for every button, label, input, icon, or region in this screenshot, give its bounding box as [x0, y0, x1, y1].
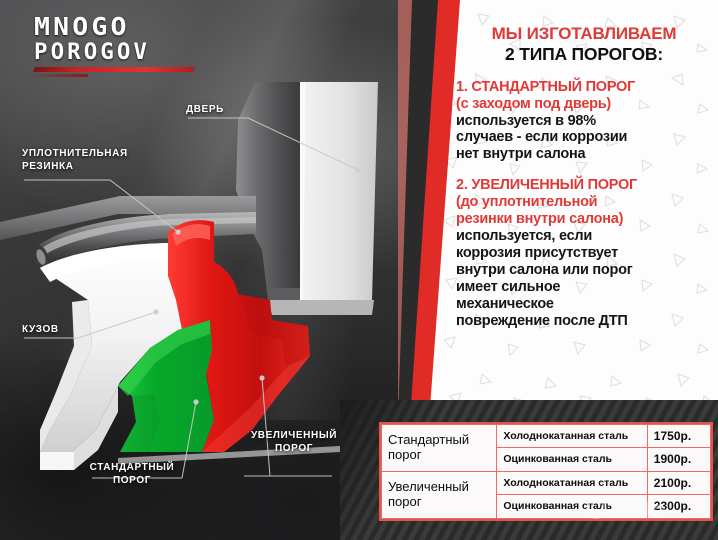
label-door: ДВЕРЬ: [186, 104, 224, 117]
panel-block-extended: 2. УВЕЛИЧЕННЫЙ ПОРОГ (до уплотнительной …: [456, 177, 712, 330]
table-row: Стандартный порог Холоднокатанная сталь …: [382, 425, 711, 448]
panel-block-standard: 1. СТАНДАРТНЫЙ ПОРОГ (с заходом под двер…: [456, 79, 712, 164]
cell-price: 1750р.: [647, 425, 710, 448]
block-2-black-text: используется, если коррозия присутствует…: [456, 228, 712, 330]
label-extended-sill: УВЕЛИЧЕННЫЙ ПОРОГ: [244, 430, 344, 455]
door-bottom-lip: [268, 300, 374, 315]
panel-heading-red: МЫ ИЗГОТАВЛИВАЕМ: [456, 24, 712, 43]
cell-product-standard: Стандартный порог: [382, 425, 497, 472]
cell-price: 2300р.: [647, 495, 710, 518]
panel-text-content: МЫ ИЗГОТАВЛИВАЕМ 2 ТИПА ПОРОГОВ: 1. СТАН…: [456, 24, 712, 330]
cell-material: Холоднокатанная сталь: [497, 425, 647, 448]
cell-material: Оцинкованная сталь: [497, 495, 647, 518]
cell-material: Холоднокатанная сталь: [497, 471, 647, 494]
door-outer-panel: [300, 82, 378, 300]
table-row: Увеличенный порог Холоднокатанная сталь …: [382, 471, 711, 494]
label-body: КУЗОВ: [22, 324, 59, 337]
block-1-black-text: используется в 98% случаев - если корроз…: [456, 113, 712, 164]
label-standard-sill: СТАНДАРТНЫЙ ПОРОГ: [84, 462, 180, 487]
panel-heading-black: 2 ТИПА ПОРОГОВ:: [456, 45, 712, 65]
cell-product-extended: Увеличенный порог: [382, 471, 497, 518]
cell-price: 1900р.: [647, 448, 710, 471]
price-table: Стандартный порог Холоднокатанная сталь …: [381, 424, 711, 519]
door-inner-panel: [236, 82, 300, 300]
label-rubber-seal: УПЛОТНИТЕЛЬНАЯ РЕЗИНКА: [22, 148, 128, 173]
promo-image: MNOGO POROGOV: [0, 0, 718, 540]
cell-price: 2100р.: [647, 471, 710, 494]
cell-material: Оцинкованная сталь: [497, 448, 647, 471]
block-1-red-text: 1. СТАНДАРТНЫЙ ПОРОГ (с заходом под двер…: [456, 79, 712, 113]
block-2-red-text: 2. УВЕЛИЧЕННЫЙ ПОРОГ (до уплотнительной …: [456, 177, 712, 228]
